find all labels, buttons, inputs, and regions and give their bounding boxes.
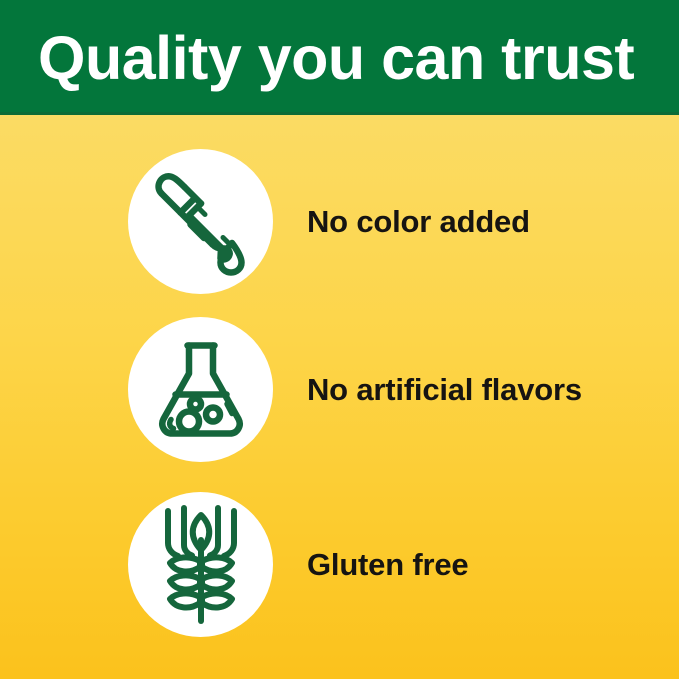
feature-label-no-artificial-flavors: No artificial flavors — [307, 317, 582, 462]
feature-label-no-color-added: No color added — [307, 149, 530, 294]
feature-row: No color added — [0, 149, 679, 295]
icon-badge-no-color-added — [128, 149, 273, 294]
page-title: Quality you can trust — [38, 19, 658, 97]
quality-claims-poster: Quality you can trust — [0, 0, 679, 679]
header-divider — [0, 112, 679, 115]
feature-row: Gluten free — [0, 492, 679, 638]
icon-badge-gluten-free — [128, 492, 273, 637]
flask-icon — [151, 336, 251, 444]
wheat-icon — [159, 505, 243, 625]
feature-row: No artificial flavors — [0, 317, 679, 463]
icon-badge-no-artificial-flavors — [128, 317, 273, 462]
feature-label-gluten-free: Gluten free — [307, 492, 468, 637]
dropper-icon — [149, 168, 253, 276]
